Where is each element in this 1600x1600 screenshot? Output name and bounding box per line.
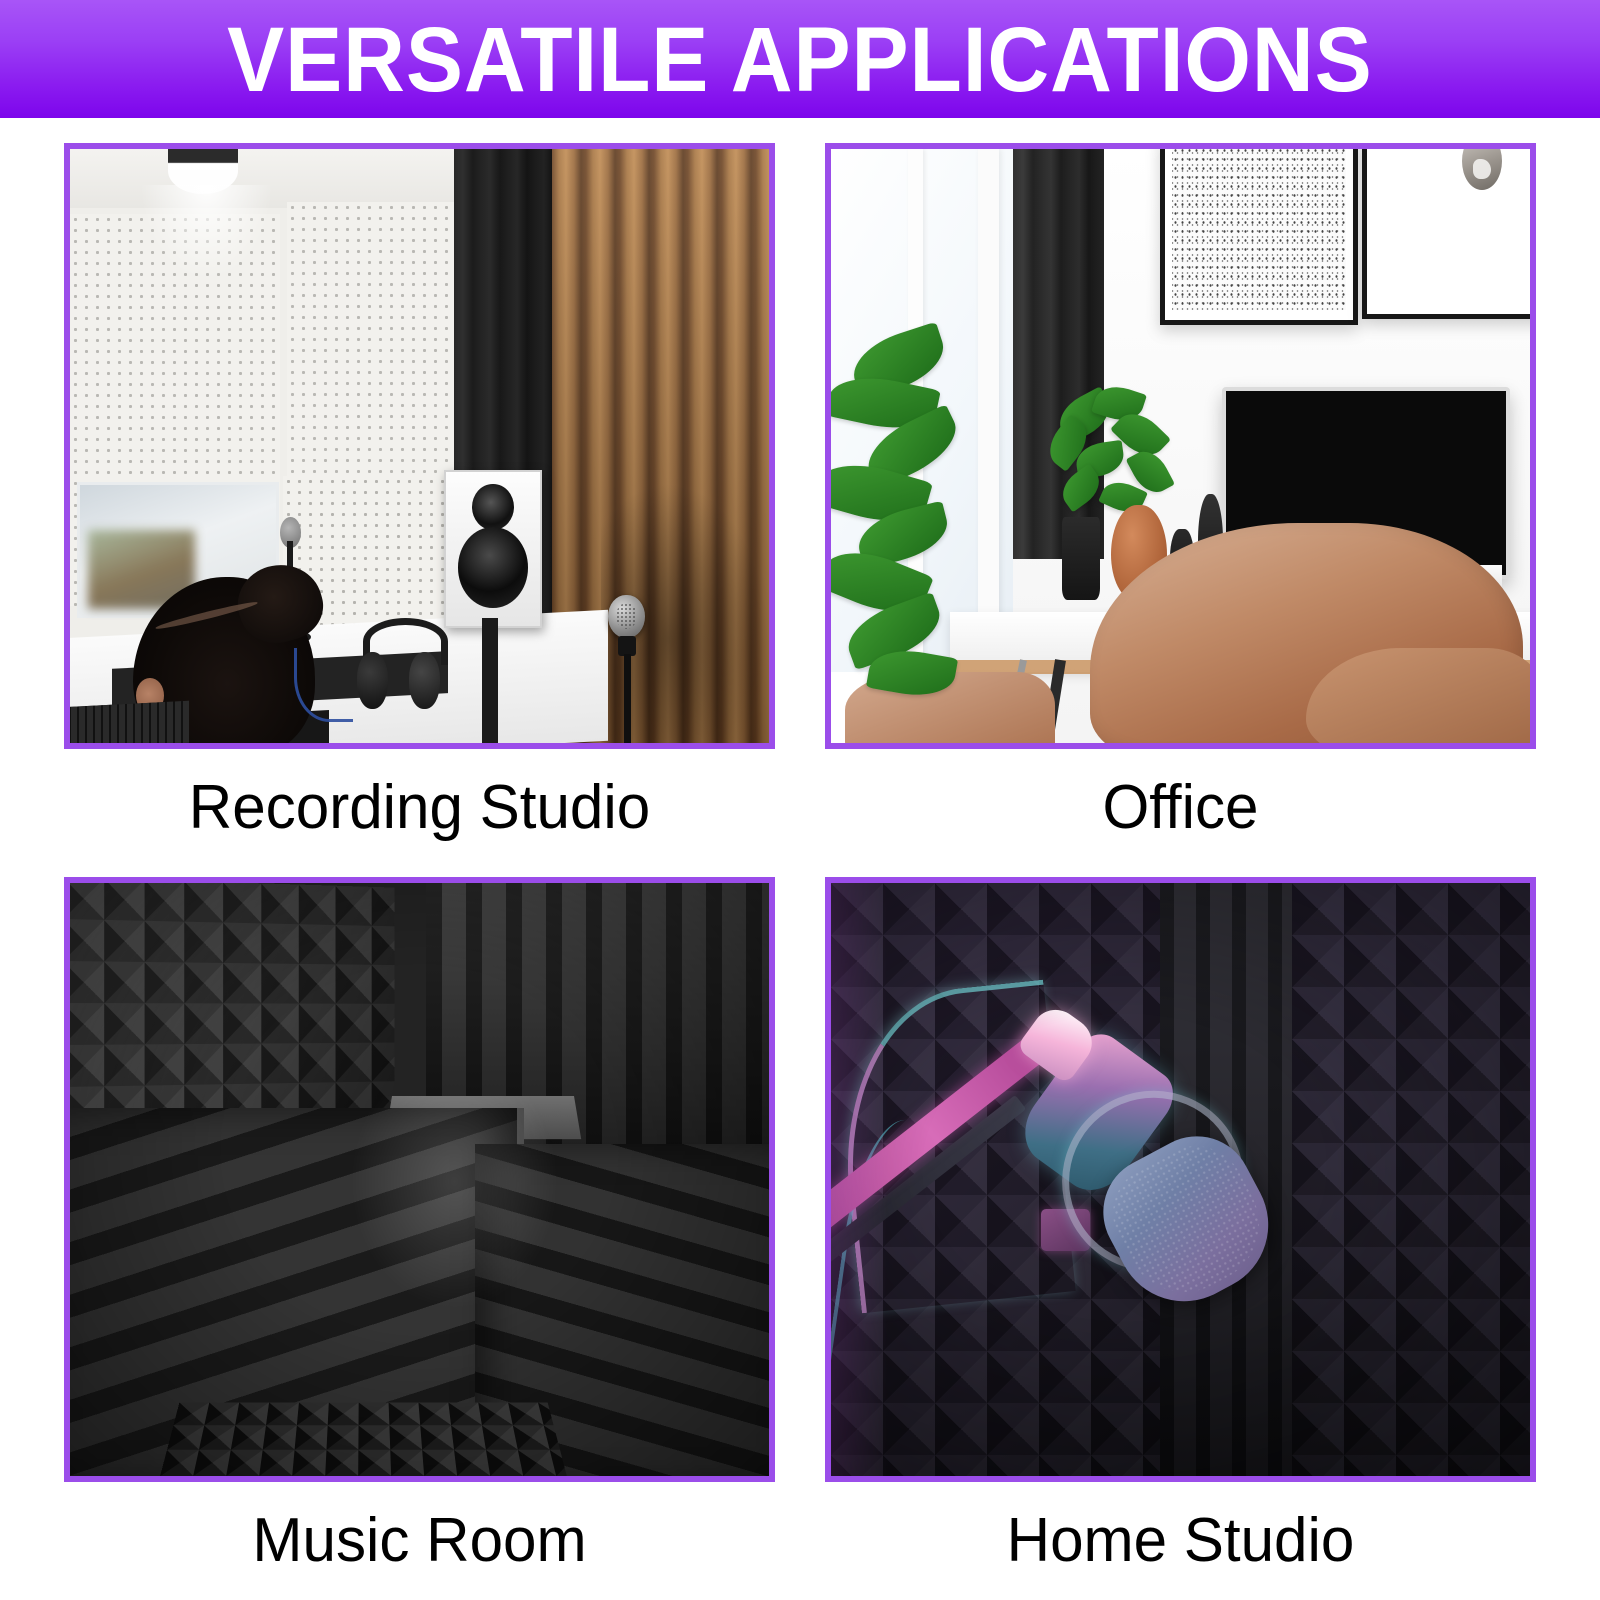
framed-abstract-artwork: [1160, 149, 1359, 325]
scene-music-room: [70, 883, 769, 1476]
headphone-cup-left: [357, 652, 389, 709]
photo-frame-music-room: [64, 877, 775, 1482]
oval-artwork-medallion: [1462, 149, 1502, 190]
header-banner: VERSATILE APPLICATIONS: [0, 0, 1600, 118]
scene-office: [831, 149, 1530, 743]
green-houseplant: [831, 327, 971, 695]
photo-frame-office: [825, 143, 1536, 749]
photo-frame-home-studio: [825, 877, 1536, 1482]
ceiling: [70, 149, 503, 208]
black-vase-tall: [1062, 517, 1100, 600]
artwork-texture: [1172, 149, 1346, 310]
speaker-stand: [482, 618, 497, 743]
window-frame-outer: [978, 149, 999, 672]
caption-music-room: Music Room: [75, 1508, 765, 1573]
framed-oval-artwork: [1362, 149, 1530, 319]
application-card-home-studio[interactable]: Home Studio: [825, 877, 1536, 1573]
caption-home-studio: Home Studio: [836, 1508, 1526, 1573]
caption-recording-studio: Recording Studio: [75, 775, 765, 840]
speaker-tweeter: [472, 484, 514, 530]
headphone-cup-right: [409, 652, 441, 709]
application-card-office[interactable]: Office: [825, 143, 1536, 840]
light-glow: [140, 185, 273, 280]
over-ear-headphones: [357, 618, 441, 713]
keyboard: [70, 701, 189, 743]
scene-home-studio: [831, 883, 1530, 1476]
microphone-grille: [616, 603, 637, 629]
vignette: [70, 883, 769, 1476]
microphone-stand: [624, 654, 631, 743]
scene-recording-studio: [70, 149, 769, 743]
infographic-page: VERSATILE APPLICATIONS: [0, 0, 1600, 1600]
application-card-music-room[interactable]: Music Room: [64, 877, 775, 1573]
speaker-woofer: [458, 527, 528, 607]
application-card-recording-studio[interactable]: Recording Studio: [64, 143, 775, 840]
caption-office: Office: [836, 775, 1526, 840]
photo-frame-recording-studio: [64, 143, 775, 749]
studio-monitor-speaker: [444, 470, 542, 628]
page-title: VERSATILE APPLICATIONS: [227, 14, 1372, 106]
application-grid: Recording Studio: [64, 143, 1536, 1483]
vignette: [831, 883, 1530, 1476]
